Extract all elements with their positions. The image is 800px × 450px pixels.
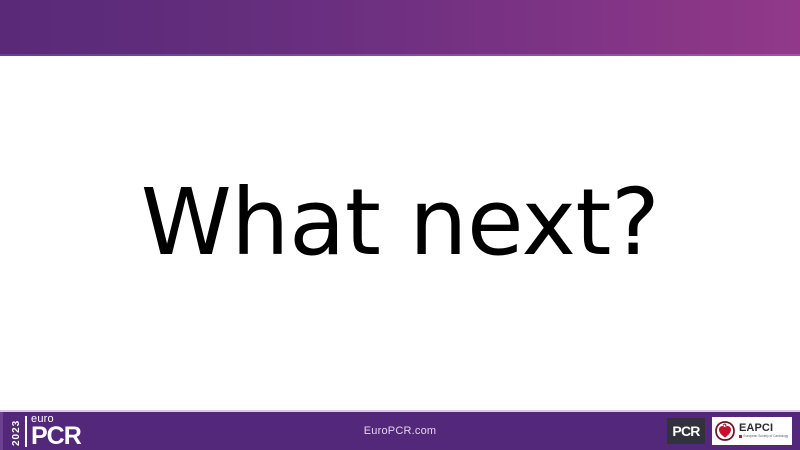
eapci-subtitle: European Society of Cardiology	[744, 434, 789, 439]
pcr-badge-label: PCR	[672, 424, 699, 438]
footer-left-accent-strip	[0, 412, 3, 450]
heart-icon	[715, 421, 735, 441]
eapci-badge: EAPCI European Society of Cardiology	[712, 417, 792, 445]
eapci-name: EAPCI	[739, 423, 788, 434]
footer-logo-group: PCR EAPCI European Society of Cardiology	[667, 415, 792, 447]
slide-title: What next?	[141, 177, 660, 269]
europcr-logo-divider	[25, 416, 27, 447]
esc-mark-icon	[739, 435, 742, 438]
pcr-badge: PCR	[667, 418, 705, 444]
eapci-text-block: EAPCI European Society of Cardiology	[739, 423, 788, 439]
presentation-slide: What next? 2023 euro PCR EuroPCR.com PCR…	[0, 0, 800, 450]
europcr-logo-pcr-text: PCR	[31, 425, 81, 448]
europcr-logo-year: 2023	[12, 416, 22, 449]
footer-website-link[interactable]: EuroPCR.com	[364, 425, 437, 437]
europcr-logo: 2023 euro PCR	[12, 413, 81, 449]
eapci-subtitle-row: European Society of Cardiology	[739, 434, 788, 439]
europcr-logo-wordmark: euro PCR	[31, 414, 81, 449]
top-banner	[0, 0, 800, 56]
title-area: What next?	[0, 56, 800, 406]
